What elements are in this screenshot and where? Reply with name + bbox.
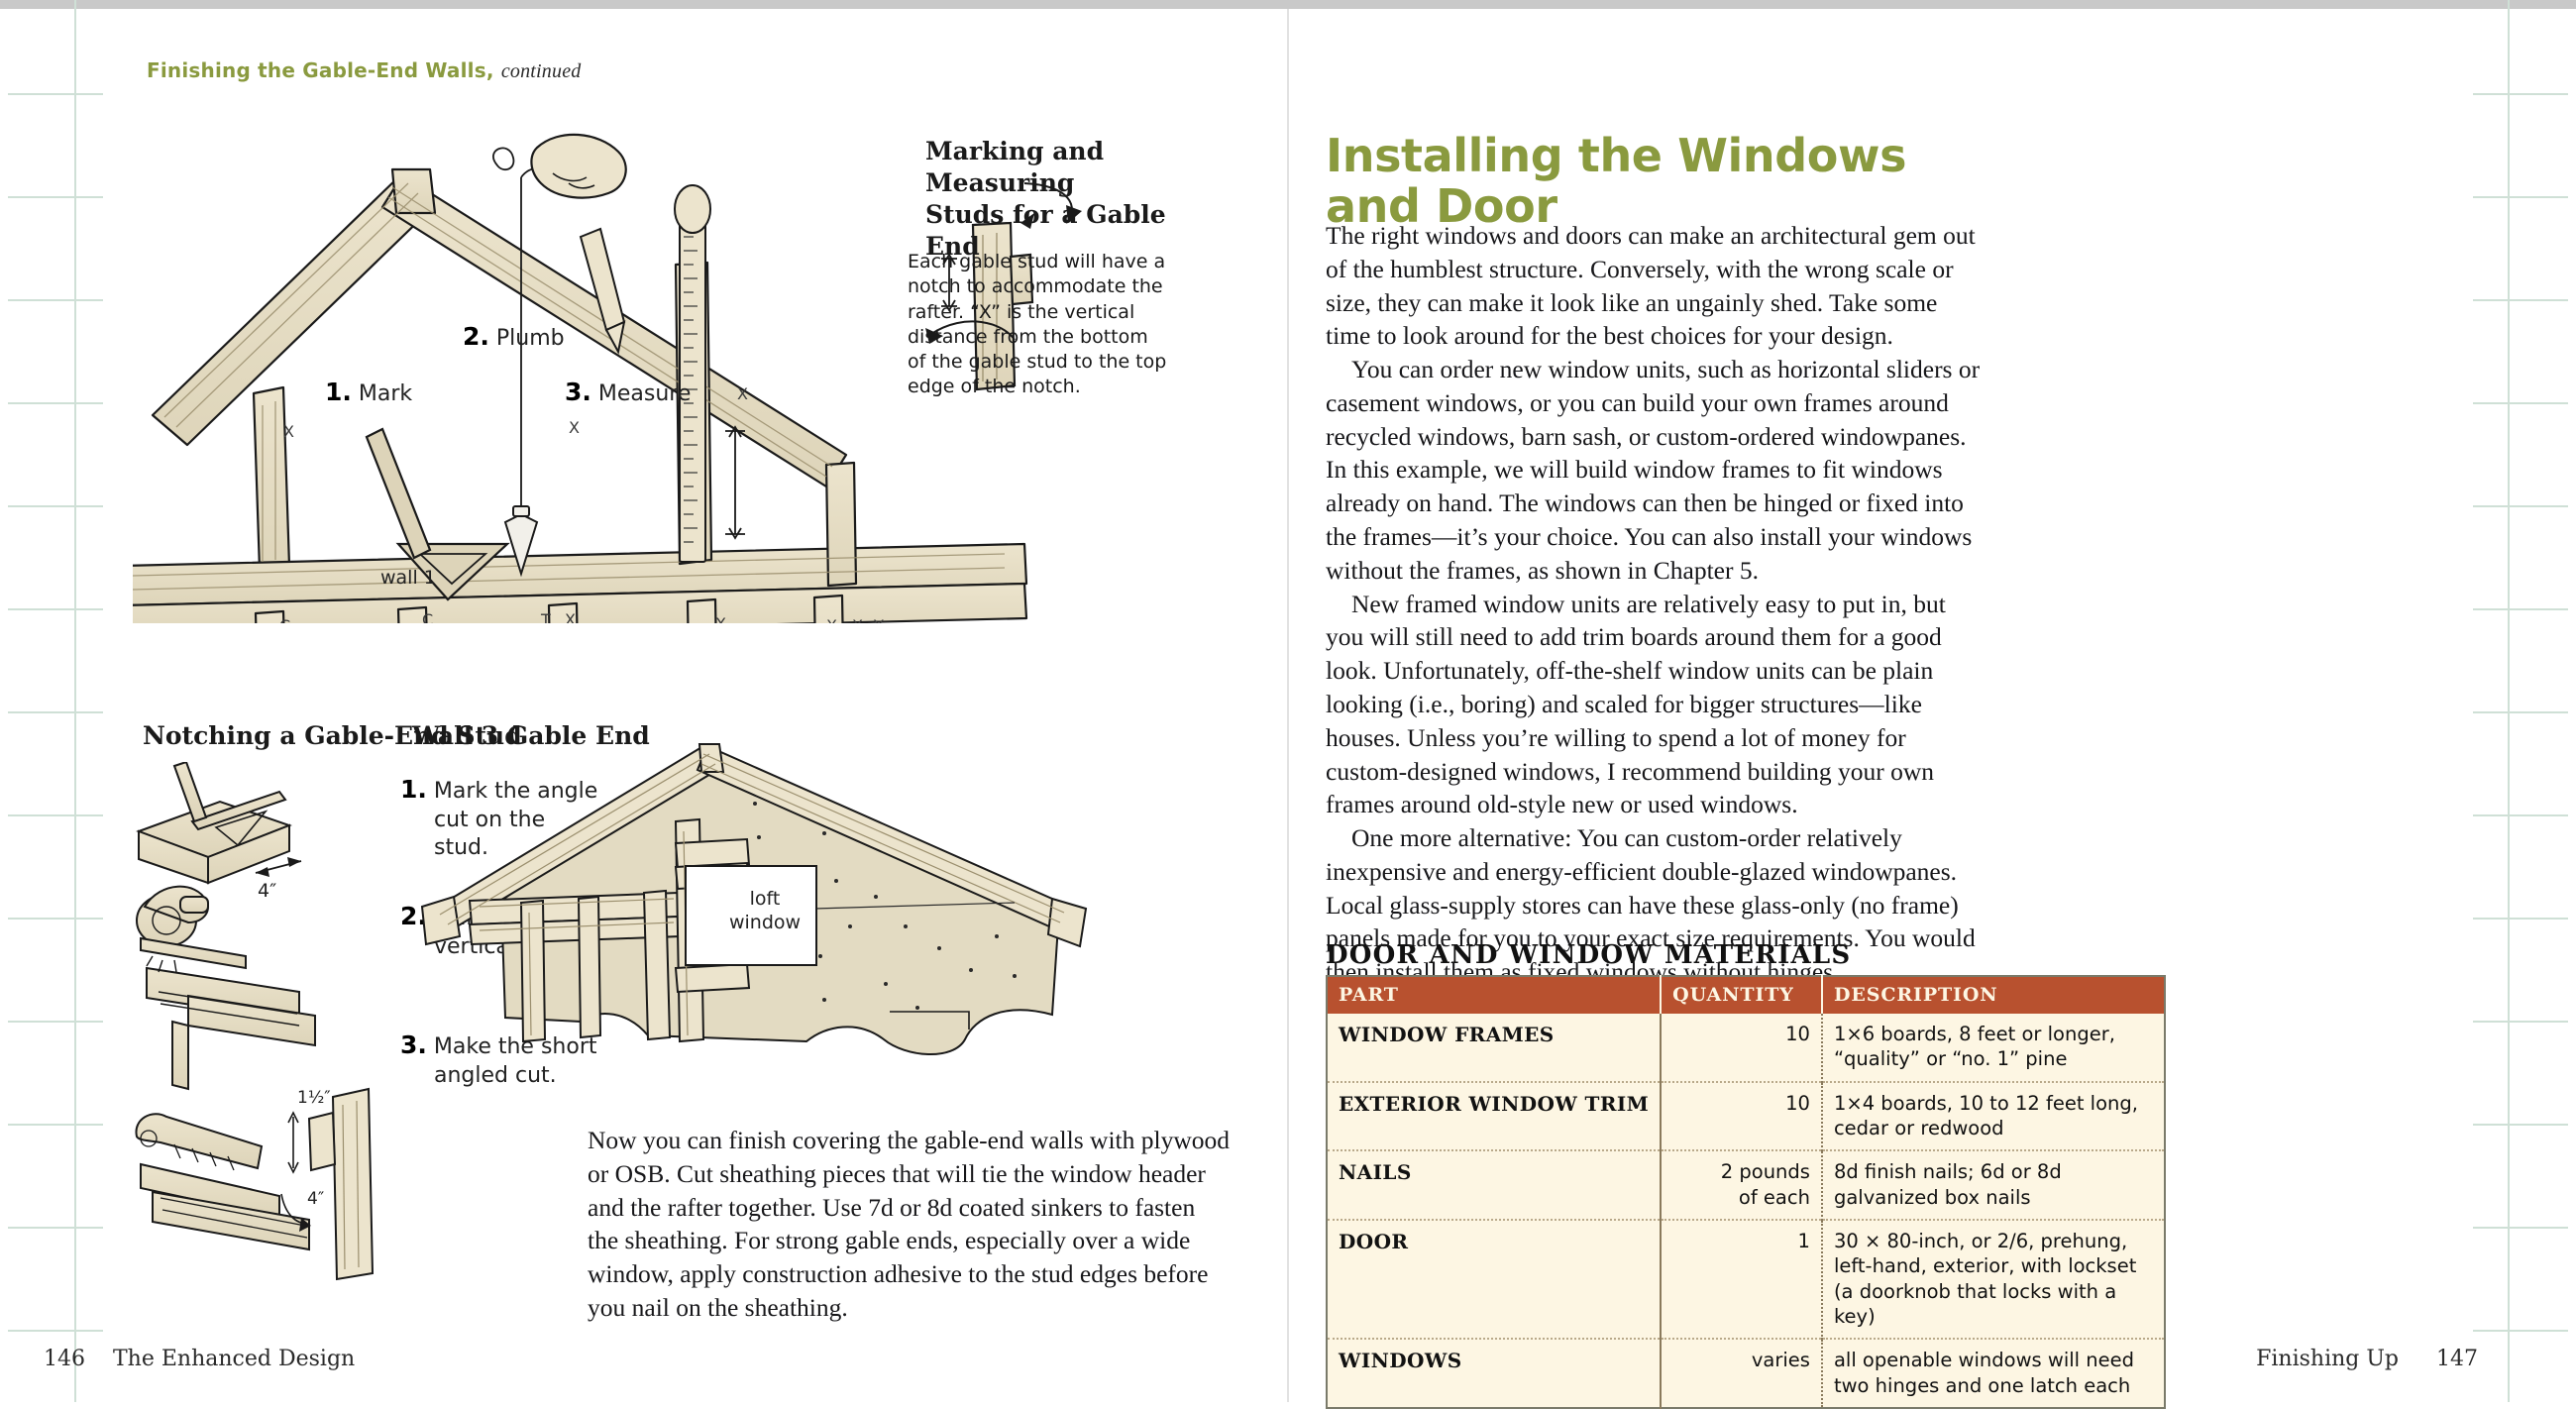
cell-description: all openable windows will need two hinge… (1822, 1339, 2165, 1408)
table-row: WINDOWS varies all openable windows will… (1327, 1339, 2165, 1408)
svg-text:C: C (422, 610, 433, 623)
svg-text:4″: 4″ (258, 880, 276, 899)
running-head-continued: continued (501, 60, 582, 82)
table-title-door-window-materials: DOOR AND WINDOW MATERIALS (1326, 940, 1851, 970)
table-body: WINDOW FRAMES 10 1×6 boards, 8 feet or l… (1327, 1014, 2165, 1408)
label-wall-1: wall 1 (380, 567, 436, 589)
table-header-row: PART QUANTITY DESCRIPTION (1327, 976, 2165, 1014)
table-row: WINDOW FRAMES 10 1×6 boards, 8 feet or l… (1327, 1014, 2165, 1082)
label-loft-window: loft window (710, 887, 819, 935)
svg-text:4″: 4″ (307, 1189, 324, 1209)
book-page-spread: Finishing the Gable-End Walls, continued (0, 0, 2576, 1402)
cell-description: 1×4 boards, 10 to 12 feet long, cedar or… (1822, 1082, 2165, 1151)
running-head: Finishing the Gable-End Walls, continued (147, 58, 581, 83)
top-edge-bar (0, 0, 2576, 9)
dimension-marker-4in-top: 4″ (240, 839, 359, 899)
svg-text:X: X (852, 616, 863, 623)
cell-quantity: 1 (1661, 1220, 1822, 1339)
table-row: NAILS 2 pounds of each 8d finish nails; … (1327, 1150, 2165, 1220)
cell-description: 30 × 80-inch, or 2/6, prehung, left-hand… (1822, 1220, 2165, 1339)
cell-part: NAILS (1327, 1150, 1661, 1220)
svg-text:1½″: 1½″ (297, 1088, 331, 1108)
cell-description: 1×6 boards, 8 feet or longer, “quality” … (1822, 1014, 2165, 1082)
callout-gable-stud-notch: Each gable stud will have a notch to acc… (908, 250, 1167, 400)
cell-part: EXTERIOR WINDOW TRIM (1327, 1082, 1661, 1151)
cell-part: WINDOW FRAMES (1327, 1014, 1661, 1082)
page-title-installing-windows-and-door: Installing the Windows and Door (1326, 131, 1940, 233)
step-label-1-mark: 1. Mark (325, 378, 412, 406)
footer-page-number-right: 147 (2436, 1347, 2478, 1371)
cell-part: WINDOWS (1327, 1339, 1661, 1408)
cell-part: DOOR (1327, 1220, 1661, 1339)
door-window-materials-table: PART QUANTITY DESCRIPTION WINDOW FRAMES … (1326, 975, 2166, 1409)
cell-quantity: 2 pounds of each (1661, 1150, 1822, 1220)
cell-quantity: 10 (1661, 1014, 1822, 1082)
table-row: EXTERIOR WINDOW TRIM 10 1×4 boards, 10 t… (1327, 1082, 2165, 1151)
footer-section-left: The Enhanced Design (113, 1347, 355, 1371)
table-header: PART QUANTITY DESCRIPTION (1327, 976, 2165, 1014)
column-header-part: PART (1327, 976, 1661, 1014)
cell-quantity: varies (1661, 1339, 1822, 1408)
svg-text:X: X (737, 384, 748, 403)
running-head-title: Finishing the Gable-End Walls, (147, 58, 494, 82)
left-paragraph: Now you can finish covering the gable-en… (588, 1124, 1232, 1325)
svg-text:Y: Y (873, 616, 884, 623)
svg-text:X: X (569, 418, 580, 437)
right-page: Installing the Windows and Door The righ… (1289, 9, 2473, 1402)
svg-text:C: C (279, 616, 290, 623)
footer-section-right: Finishing Up (2256, 1347, 2399, 1371)
cell-description: 8d finish nails; 6d or 8d galvanized box… (1822, 1150, 2165, 1220)
svg-text:X: X (826, 616, 837, 623)
right-paragraph-1: The right windows and doors can make an … (1326, 219, 1987, 353)
column-header-quantity: QUANTITY (1661, 976, 1822, 1014)
left-page: Finishing the Gable-End Walls, continued (103, 9, 1287, 1402)
svg-text:X: X (283, 422, 294, 441)
svg-text:X: X (565, 610, 576, 623)
right-body-text: The right windows and doors can make an … (1326, 219, 1987, 989)
illustration-notched-stud-detail: 1½″ 4″ (271, 1079, 450, 1287)
step-label-2-plumb: 2. Plumb (463, 322, 565, 351)
right-paragraph-3: New framed window units are relatively e… (1326, 588, 1987, 821)
svg-text:T: T (540, 610, 551, 623)
svg-text:X: X (715, 614, 726, 623)
column-header-description: DESCRIPTION (1822, 976, 2165, 1014)
table-row: DOOR 1 30 × 80-inch, or 2/6, prehung, le… (1327, 1220, 2165, 1339)
step-label-3-measure: 3. Measure (565, 378, 691, 406)
footer-page-number-left: 146 (44, 1347, 85, 1371)
cell-quantity: 10 (1661, 1082, 1822, 1151)
figure-title-marking-measuring: Marking and Measuring Studs for a Gable … (925, 136, 1223, 263)
right-paragraph-2: You can order new window units, such as … (1326, 353, 1987, 587)
left-body-text: Now you can finish covering the gable-en… (588, 1124, 1232, 1325)
